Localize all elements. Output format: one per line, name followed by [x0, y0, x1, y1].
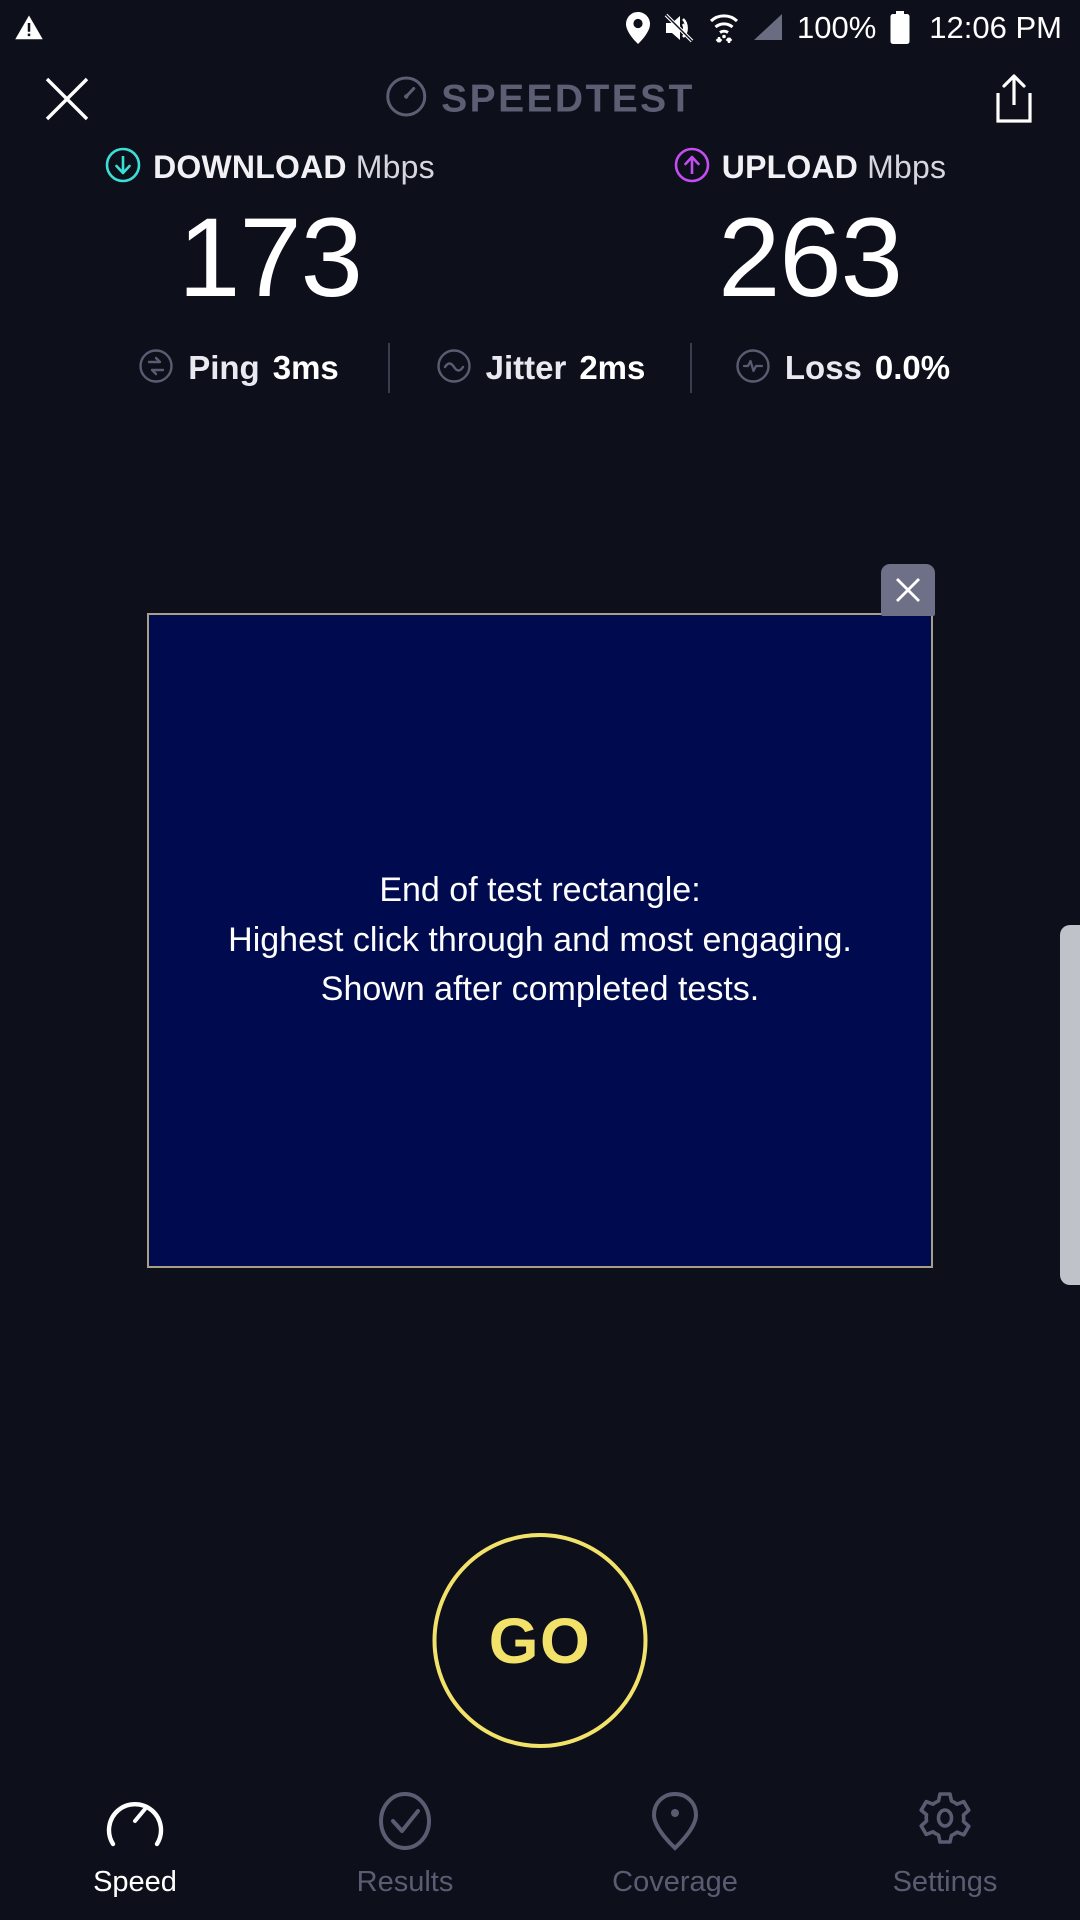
speedtest-app-screen: 100% 12:06 PM: [0, 0, 1080, 1920]
status-bar-left-icons: [14, 13, 44, 43]
upload-label: UPLOAD Mbps: [722, 149, 946, 186]
brand-logo: SPEEDTEST: [385, 76, 695, 123]
gear-icon: [914, 1790, 976, 1852]
jitter-label: Jitter: [486, 349, 567, 387]
ping-metric: Ping 3ms: [88, 347, 388, 390]
upload-value: 263: [718, 202, 902, 314]
nav-label-speed: Speed: [93, 1866, 177, 1899]
nav-item-results[interactable]: Results: [270, 1768, 540, 1920]
download-upload-row: DOWNLOAD Mbps 173 UPLOAD Mbps 263: [0, 146, 1080, 314]
app-header: SPEEDTEST: [0, 56, 1080, 142]
ping-value: 3ms: [273, 349, 339, 387]
loss-metric: Loss 0.0%: [692, 347, 992, 390]
wifi-icon: [709, 12, 739, 44]
nav-item-speed[interactable]: Speed: [0, 1768, 270, 1920]
nav-item-coverage[interactable]: Coverage: [540, 1768, 810, 1920]
arrow-down-circle-icon: [105, 147, 141, 188]
nav-label-settings: Settings: [893, 1866, 998, 1899]
go-button[interactable]: GO: [433, 1533, 648, 1748]
jitter-icon: [435, 347, 473, 390]
nav-item-settings[interactable]: Settings: [810, 1768, 1080, 1920]
ping-label: Ping: [188, 349, 260, 387]
battery-percent-label: 100%: [797, 10, 876, 46]
speedometer-icon: [104, 1790, 166, 1852]
ad-text: End of test rectangle: Highest click thr…: [228, 866, 852, 1016]
map-pin-icon: [644, 1790, 706, 1852]
check-circle-icon: [374, 1790, 436, 1852]
bottom-navigation-bar: Speed Results Coverage: [0, 1768, 1080, 1920]
ping-icon: [137, 347, 175, 390]
nav-label-coverage: Coverage: [612, 1866, 738, 1899]
volume-mute-icon: [664, 13, 696, 43]
jitter-value: 2ms: [579, 349, 645, 387]
loss-label: Loss: [785, 349, 862, 387]
ad-close-button[interactable]: [881, 564, 935, 616]
jitter-metric: Jitter 2ms: [390, 347, 690, 390]
loss-icon: [734, 347, 772, 390]
ping-jitter-loss-row: Ping 3ms Jitter 2ms: [0, 336, 1080, 400]
download-metric: DOWNLOAD Mbps 173: [0, 146, 540, 314]
android-status-bar: 100% 12:06 PM: [0, 0, 1080, 56]
status-bar-clock: 12:06 PM: [929, 10, 1062, 46]
warning-triangle-icon: [14, 13, 44, 43]
download-header: DOWNLOAD Mbps: [105, 146, 435, 188]
download-label: DOWNLOAD Mbps: [153, 149, 435, 186]
test-results-panel: DOWNLOAD Mbps 173 UPLOAD Mbps 263: [0, 146, 1080, 400]
battery-full-icon: [889, 11, 911, 45]
ad-line-2: Highest click through and most engaging.: [228, 916, 852, 966]
brand-title: SPEEDTEST: [441, 77, 695, 121]
speedtest-gauge-icon: [385, 76, 427, 123]
upload-metric: UPLOAD Mbps 263: [540, 146, 1080, 314]
status-bar-right-icons: 100% 12:06 PM: [625, 10, 1062, 46]
loss-value: 0.0%: [875, 349, 950, 387]
share-button[interactable]: [986, 69, 1042, 129]
go-button-label: GO: [489, 1604, 592, 1678]
nav-label-results: Results: [357, 1866, 454, 1899]
close-app-button[interactable]: [36, 68, 98, 130]
advertisement-banner[interactable]: End of test rectangle: Highest click thr…: [147, 613, 933, 1268]
page-scrollbar[interactable]: [1060, 925, 1080, 1285]
ad-line-3: Shown after completed tests.: [228, 965, 852, 1015]
download-value: 173: [178, 202, 362, 314]
location-pin-icon: [625, 12, 651, 44]
upload-header: UPLOAD Mbps: [674, 146, 946, 188]
arrow-up-circle-icon: [674, 147, 710, 188]
cell-signal-icon: [752, 13, 784, 43]
ad-line-1: End of test rectangle:: [228, 866, 852, 916]
